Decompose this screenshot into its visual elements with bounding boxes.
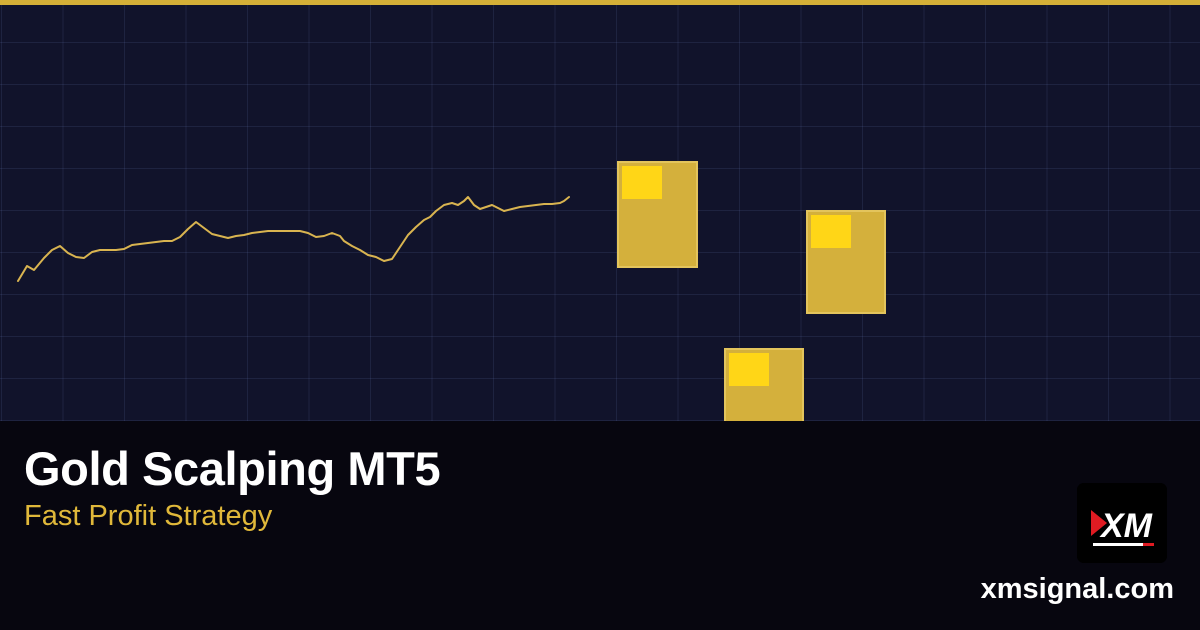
gold-block-highlight [811,215,851,248]
social-card: Gold Scalping MT5 Fast Profit Strategy X… [0,0,1200,630]
gold-block-highlight [622,166,662,199]
xm-logo-icon: XM [1077,483,1167,563]
price-line-series [18,197,569,281]
gold-block [617,161,698,268]
xm-logo-svg: XM [1077,483,1167,563]
logo-underline [1093,543,1143,546]
brand-domain-text: xmsignal.com [981,573,1174,606]
gold-block [806,210,886,314]
footer-band: Gold Scalping MT5 Fast Profit Strategy X… [0,421,1200,630]
chart-panel [0,5,1200,421]
gold-block [724,348,804,421]
page-subtitle: Fast Profit Strategy [24,500,272,533]
gold-block-highlight [729,353,769,386]
page-title: Gold Scalping MT5 [24,441,440,496]
logo-underline-accent [1143,543,1154,546]
price-line-chart [0,5,1200,421]
logo-wordmark: XM [1099,507,1153,545]
brand-logo-container: XM [1070,483,1174,563]
